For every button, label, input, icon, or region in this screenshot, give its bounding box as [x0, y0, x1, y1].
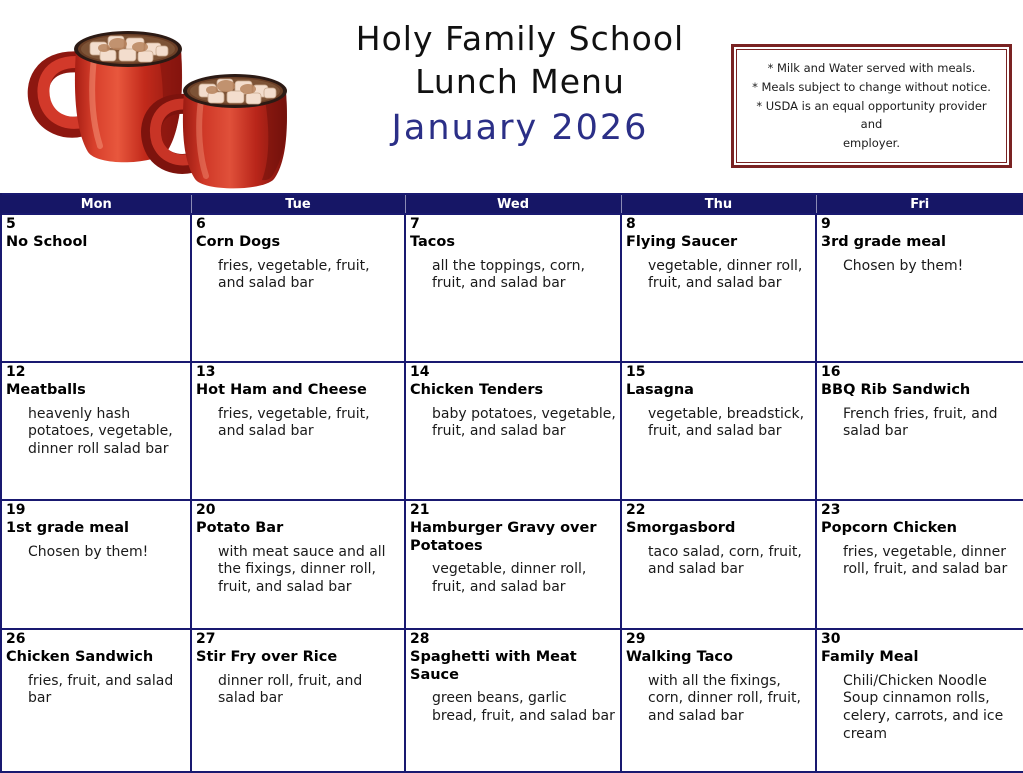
- month-year: January 2026: [322, 110, 718, 147]
- meal-name: Stir Fry over Rice: [196, 649, 400, 667]
- day-number: 8: [626, 217, 811, 231]
- meal-description: with all the fixings, corn, dinner roll,…: [648, 673, 811, 726]
- meal-name: Chicken Tenders: [410, 382, 616, 400]
- meal-description: Chili/Chicken Noodle Soup cinnamon rolls…: [843, 673, 1019, 744]
- day-number: 7: [410, 217, 616, 231]
- meal-description: vegetable, dinner roll, fruit, and salad…: [648, 258, 811, 293]
- day-cell[interactable]: 23 Popcorn Chicken fries, vegetable, din…: [816, 500, 1023, 629]
- meal-description: dinner roll, fruit, and salad bar: [218, 673, 400, 708]
- day-number: 19: [6, 503, 186, 517]
- day-cell[interactable]: 9 3rd grade meal Chosen by them!: [816, 214, 1023, 362]
- day-number: 15: [626, 365, 811, 379]
- day-number: 22: [626, 503, 811, 517]
- meal-name: No School: [6, 234, 186, 252]
- day-number: 26: [6, 632, 186, 646]
- day-cell[interactable]: 13 Hot Ham and Cheese fries, vegetable, …: [191, 362, 405, 500]
- day-cell[interactable]: 21 Hamburger Gravy over Potatoes vegetab…: [405, 500, 621, 629]
- day-number: 5: [6, 217, 186, 231]
- day-cell[interactable]: 19 1st grade meal Chosen by them!: [1, 500, 191, 629]
- notes-inner: * Milk and Water served with meals. * Me…: [736, 49, 1007, 163]
- calendar-week-row: 5 No School 6 Corn Dogs fries, vegetable…: [1, 214, 1023, 362]
- menu-subtitle: Lunch Menu: [322, 65, 718, 100]
- calendar-week-row: 19 1st grade meal Chosen by them! 20 Pot…: [1, 500, 1023, 629]
- column-header-mon: Mon: [1, 194, 191, 214]
- day-number: 20: [196, 503, 400, 517]
- note-line-usda: * USDA is an equal opportunity provider …: [747, 97, 996, 134]
- day-number: 27: [196, 632, 400, 646]
- meal-description: green beans, garlic bread, fruit, and sa…: [432, 690, 616, 725]
- meal-name: Tacos: [410, 234, 616, 252]
- meal-description: fries, vegetable, fruit, and salad bar: [218, 406, 400, 441]
- note-line-milk: * Milk and Water served with meals.: [768, 59, 976, 78]
- meal-name: Hamburger Gravy over Potatoes: [410, 520, 616, 555]
- day-number: 29: [626, 632, 811, 646]
- column-header-fri: Fri: [816, 194, 1023, 214]
- day-cell[interactable]: 8 Flying Saucer vegetable, dinner roll, …: [621, 214, 816, 362]
- note-line-usda-cont: employer.: [843, 134, 900, 153]
- meal-name: Meatballs: [6, 382, 186, 400]
- meal-name: 1st grade meal: [6, 520, 186, 538]
- day-number: 12: [6, 365, 186, 379]
- school-name: Holy Family School: [322, 22, 718, 57]
- day-cell[interactable]: 14 Chicken Tenders baby potatoes, vegeta…: [405, 362, 621, 500]
- meal-description: fries, fruit, and salad bar: [28, 673, 186, 708]
- day-number: 30: [821, 632, 1019, 646]
- meal-description: baby potatoes, vegetable, fruit, and sal…: [432, 406, 616, 441]
- day-number: 28: [410, 632, 616, 646]
- column-header-wed: Wed: [405, 194, 621, 214]
- meal-name: Corn Dogs: [196, 234, 400, 252]
- day-number: 16: [821, 365, 1019, 379]
- day-number: 14: [410, 365, 616, 379]
- meal-description: vegetable, dinner roll, fruit, and salad…: [432, 561, 616, 596]
- day-number: 23: [821, 503, 1019, 517]
- day-cell[interactable]: 12 Meatballs heavenly hash potatoes, veg…: [1, 362, 191, 500]
- meal-description: Chosen by them!: [843, 258, 1019, 276]
- meal-name: BBQ Rib Sandwich: [821, 382, 1019, 400]
- meal-description: heavenly hash potatoes, vegetable, dinne…: [28, 406, 186, 459]
- day-cell[interactable]: 16 BBQ Rib Sandwich French fries, fruit,…: [816, 362, 1023, 500]
- hot-cocoa-mugs-icon: [18, 2, 318, 190]
- meal-name: Chicken Sandwich: [6, 649, 186, 667]
- meal-description: all the toppings, corn, fruit, and salad…: [432, 258, 616, 293]
- meal-name: Family Meal: [821, 649, 1019, 667]
- day-number: 9: [821, 217, 1019, 231]
- day-cell[interactable]: 5 No School: [1, 214, 191, 362]
- meal-description: with meat sauce and all the fixings, din…: [218, 544, 400, 597]
- meal-description: taco salad, corn, fruit, and salad bar: [648, 544, 811, 579]
- day-cell[interactable]: 20 Potato Bar with meat sauce and all th…: [191, 500, 405, 629]
- lunch-menu-calendar: Mon Tue Wed Thu Fri 5 No School 6 Corn D…: [0, 193, 1023, 773]
- meal-name: Potato Bar: [196, 520, 400, 538]
- day-number: 13: [196, 365, 400, 379]
- meal-description: fries, vegetable, dinner roll, fruit, an…: [843, 544, 1019, 579]
- day-number: 6: [196, 217, 400, 231]
- note-line-change: * Meals subject to change without notice…: [752, 78, 991, 97]
- day-cell[interactable]: 6 Corn Dogs fries, vegetable, fruit, and…: [191, 214, 405, 362]
- page-header: Holy Family School Lunch Menu January 20…: [0, 0, 1023, 193]
- day-cell[interactable]: 22 Smorgasbord taco salad, corn, fruit, …: [621, 500, 816, 629]
- day-cell[interactable]: 7 Tacos all the toppings, corn, fruit, a…: [405, 214, 621, 362]
- meal-name: Lasagna: [626, 382, 811, 400]
- calendar-header-row: Mon Tue Wed Thu Fri: [1, 194, 1023, 214]
- meal-description: Chosen by them!: [28, 544, 186, 562]
- meal-description: French fries, fruit, and salad bar: [843, 406, 1019, 441]
- meal-name: Flying Saucer: [626, 234, 811, 252]
- meal-name: Spaghetti with Meat Sauce: [410, 649, 616, 684]
- column-header-thu: Thu: [621, 194, 816, 214]
- notes-box: * Milk and Water served with meals. * Me…: [731, 44, 1012, 168]
- meal-name: Smorgasbord: [626, 520, 811, 538]
- day-cell[interactable]: 15 Lasagna vegetable, breadstick, fruit,…: [621, 362, 816, 500]
- meal-description: vegetable, breadstick, fruit, and salad …: [648, 406, 811, 441]
- calendar-week-row: 12 Meatballs heavenly hash potatoes, veg…: [1, 362, 1023, 500]
- day-number: 21: [410, 503, 616, 517]
- meal-description: fries, vegetable, fruit, and salad bar: [218, 258, 400, 293]
- menu-title-block: Holy Family School Lunch Menu January 20…: [322, 4, 718, 147]
- meal-name: Popcorn Chicken: [821, 520, 1019, 538]
- meal-name: Hot Ham and Cheese: [196, 382, 400, 400]
- meal-name: Walking Taco: [626, 649, 811, 667]
- column-header-tue: Tue: [191, 194, 405, 214]
- meal-name: 3rd grade meal: [821, 234, 1019, 252]
